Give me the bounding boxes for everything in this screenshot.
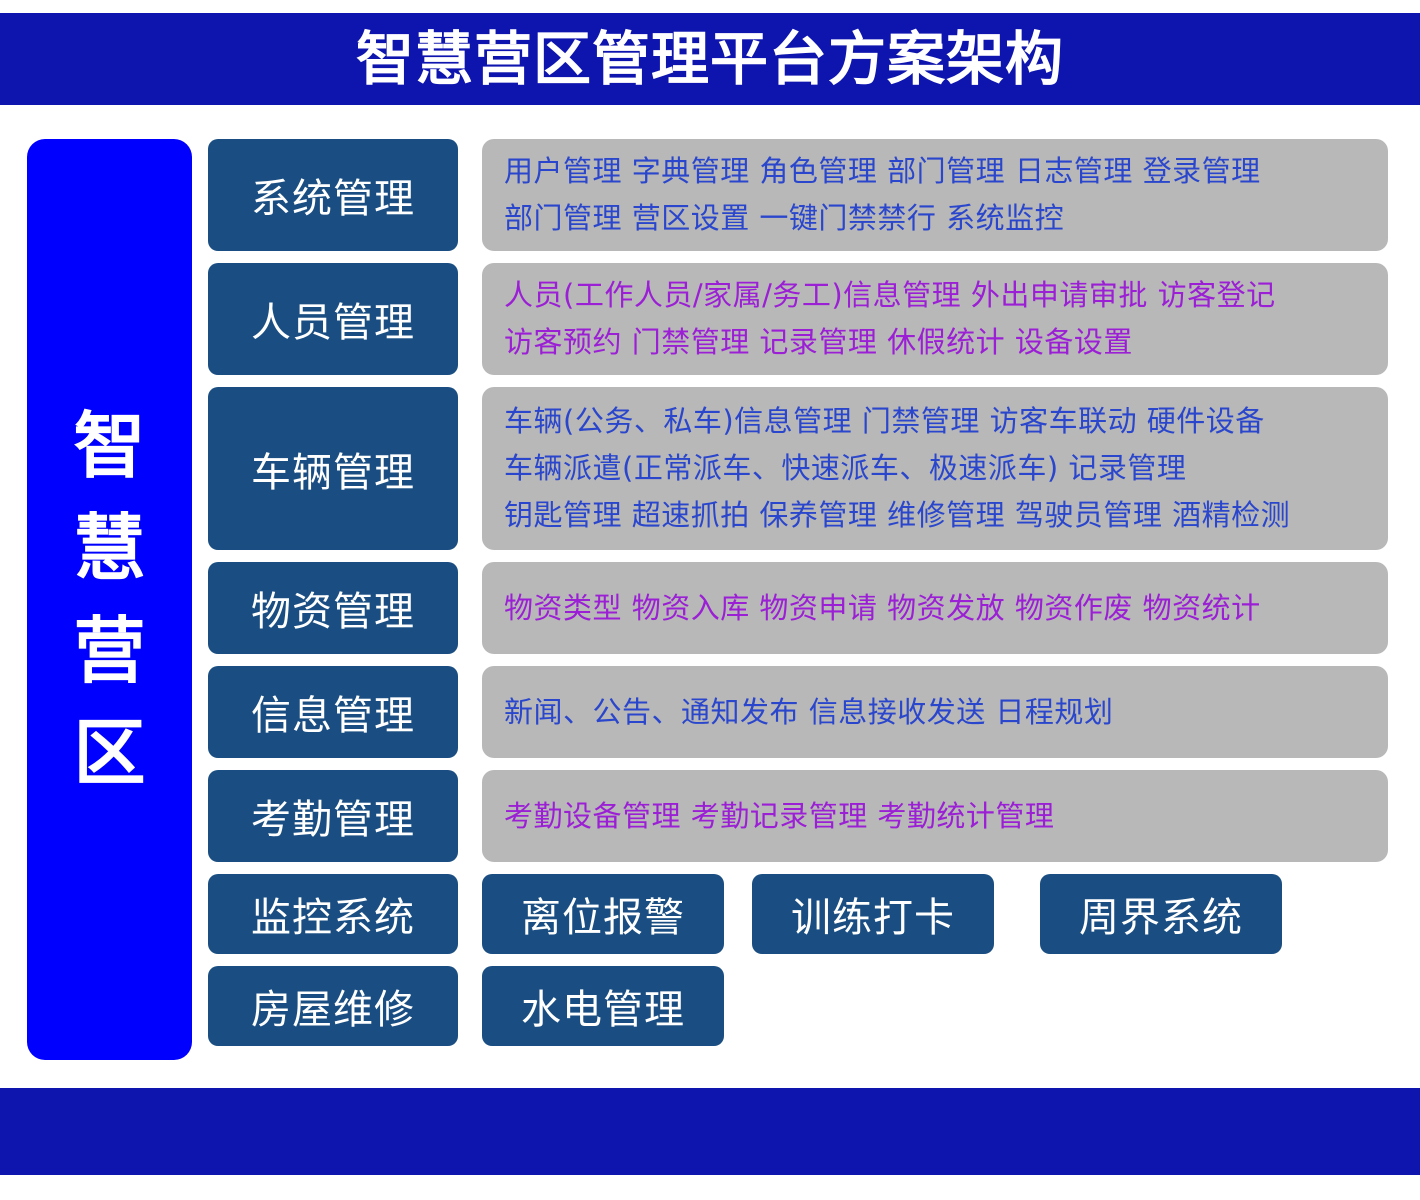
detail-panel-information: 新闻、公告、通知发布 信息接收发送 日程规划 bbox=[482, 666, 1388, 758]
bottom-banner bbox=[0, 1088, 1420, 1175]
action-button-training-checkin[interactable]: 训练打卡 bbox=[752, 874, 994, 954]
brand-char-3: 营 bbox=[73, 600, 145, 702]
detail-line: 考勤设备管理 考勤记录管理 考勤统计管理 bbox=[504, 793, 1366, 840]
action-row-1: 监控系统 离位报警 训练打卡 周界系统 bbox=[208, 874, 1388, 954]
detail-panel-personnel: 人员(工作人员/家属/务工)信息管理 外出申请审批 访客登记 访客预约 门禁管理… bbox=[482, 263, 1388, 375]
category-button-monitoring[interactable]: 监控系统 bbox=[208, 874, 458, 954]
brand-char-2: 慧 bbox=[73, 497, 145, 599]
brand-sidebar: 智 慧 营 区 bbox=[27, 139, 192, 1060]
category-button-house-repair[interactable]: 房屋维修 bbox=[208, 966, 458, 1046]
category-button-vehicle[interactable]: 车辆管理 bbox=[208, 387, 458, 550]
module-row-vehicle: 车辆管理 车辆(公务、私车)信息管理 门禁管理 访客车联动 硬件设备 车辆派遣(… bbox=[208, 387, 1388, 550]
detail-panel-material: 物资类型 物资入库 物资申请 物资发放 物资作废 物资统计 bbox=[482, 562, 1388, 654]
category-button-personnel[interactable]: 人员管理 bbox=[208, 263, 458, 375]
category-button-material[interactable]: 物资管理 bbox=[208, 562, 458, 654]
detail-panel-attendance: 考勤设备管理 考勤记录管理 考勤统计管理 bbox=[482, 770, 1388, 862]
action-button-perimeter-system[interactable]: 周界系统 bbox=[1040, 874, 1282, 954]
top-banner: 智慧营区管理平台方案架构 bbox=[0, 13, 1420, 105]
module-row-material: 物资管理 物资类型 物资入库 物资申请 物资发放 物资作废 物资统计 bbox=[208, 562, 1388, 654]
category-button-attendance[interactable]: 考勤管理 bbox=[208, 770, 458, 862]
action-row-2: 房屋维修 水电管理 bbox=[208, 966, 1388, 1046]
detail-line: 物资类型 物资入库 物资申请 物资发放 物资作废 物资统计 bbox=[504, 585, 1366, 632]
detail-line: 访客预约 门禁管理 记录管理 休假统计 设备设置 bbox=[504, 319, 1366, 366]
brand-char-4: 区 bbox=[73, 702, 145, 804]
module-row-personnel: 人员管理 人员(工作人员/家属/务工)信息管理 外出申请审批 访客登记 访客预约… bbox=[208, 263, 1388, 375]
action-button-utilities-management[interactable]: 水电管理 bbox=[482, 966, 724, 1046]
detail-line: 人员(工作人员/家属/务工)信息管理 外出申请审批 访客登记 bbox=[504, 272, 1366, 319]
detail-line: 新闻、公告、通知发布 信息接收发送 日程规划 bbox=[504, 689, 1366, 736]
detail-line: 钥匙管理 超速抓拍 保养管理 维修管理 驾驶员管理 酒精检测 bbox=[504, 492, 1366, 539]
brand-char-1: 智 bbox=[73, 395, 145, 497]
detail-panel-vehicle: 车辆(公务、私车)信息管理 门禁管理 访客车联动 硬件设备 车辆派遣(正常派车、… bbox=[482, 387, 1388, 550]
detail-line: 车辆(公务、私车)信息管理 门禁管理 访客车联动 硬件设备 bbox=[504, 398, 1366, 445]
detail-panel-system: 用户管理 字典管理 角色管理 部门管理 日志管理 登录管理 部门管理 营区设置 … bbox=[482, 139, 1388, 251]
action-button-off-post-alarm[interactable]: 离位报警 bbox=[482, 874, 724, 954]
category-button-system[interactable]: 系统管理 bbox=[208, 139, 458, 251]
detail-line: 车辆派遣(正常派车、快速派车、极速派车) 记录管理 bbox=[504, 445, 1366, 492]
detail-line: 部门管理 营区设置 一键门禁禁行 系统监控 bbox=[504, 195, 1366, 242]
module-row-system: 系统管理 用户管理 字典管理 角色管理 部门管理 日志管理 登录管理 部门管理 … bbox=[208, 139, 1388, 251]
module-row-attendance: 考勤管理 考勤设备管理 考勤记录管理 考勤统计管理 bbox=[208, 770, 1388, 862]
module-row-information: 信息管理 新闻、公告、通知发布 信息接收发送 日程规划 bbox=[208, 666, 1388, 758]
detail-line: 用户管理 字典管理 角色管理 部门管理 日志管理 登录管理 bbox=[504, 148, 1366, 195]
category-button-information[interactable]: 信息管理 bbox=[208, 666, 458, 758]
architecture-content: 系统管理 用户管理 字典管理 角色管理 部门管理 日志管理 登录管理 部门管理 … bbox=[208, 139, 1388, 1058]
page-title: 智慧营区管理平台方案架构 bbox=[356, 30, 1064, 88]
